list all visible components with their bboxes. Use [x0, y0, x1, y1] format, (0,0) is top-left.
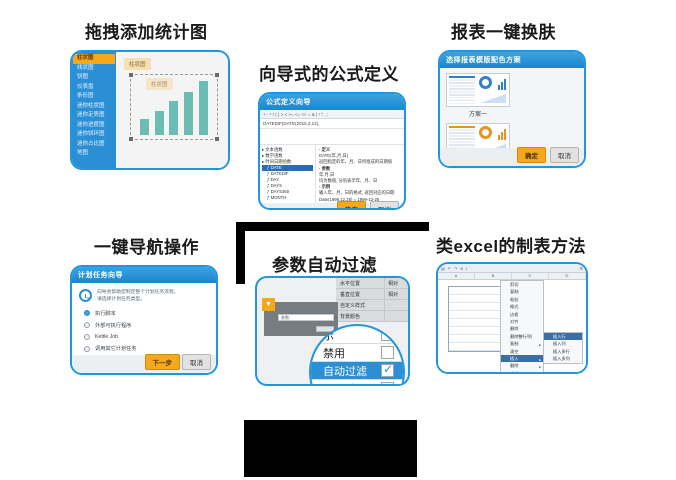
chevron-right-icon: ▸ — [539, 371, 541, 374]
spreadsheet-grid[interactable]: 剪切复制粘贴格式边框对齐删除删除整行/列复制▸清空插入▸删除▸合并▸ 插入行插入… — [438, 280, 586, 372]
column-header[interactable]: C — [512, 273, 549, 279]
radio-button[interactable] — [84, 322, 90, 328]
property-row[interactable]: 水平位置相对 — [336, 278, 408, 289]
chart-bar — [199, 81, 208, 135]
function-tree[interactable]: ▸ 文本函数▸ 数学函数▸ 时间日期函数ƒ DATEƒ DATEDIFƒ DAY… — [260, 145, 316, 203]
task-type-option[interactable]: 执行脚本 — [72, 307, 216, 319]
task-note-line1: 向导会帮助您制定整个计划任务流程。 — [97, 289, 179, 296]
black-artifact-bracket-top — [236, 222, 429, 231]
property-key: 垂直位置 — [336, 289, 384, 299]
filter-option-label: 记录结果值 — [323, 381, 381, 387]
property-key: 水平位置 — [336, 278, 384, 288]
panel-skin-chooser: 选择报表模版配色方案 方案一方案二方案三方案四 确定 取消 — [438, 50, 586, 168]
context-menu-item[interactable]: 复制 — [501, 288, 543, 295]
settings-icon[interactable]: ⚙ — [579, 266, 583, 271]
property-value[interactable] — [384, 300, 408, 310]
radio-button[interactable] — [84, 310, 90, 316]
checkbox[interactable] — [381, 364, 394, 377]
task-cancel-button[interactable]: 取消 — [182, 354, 211, 370]
parameter-card[interactable]: ▼ 参数： — [264, 302, 338, 336]
skin-option-label: 方案一 — [446, 109, 510, 118]
context-menu-item[interactable]: 合并▸ — [501, 370, 543, 374]
property-row[interactable]: 垂直位置相对 — [336, 289, 408, 300]
checkbox[interactable] — [381, 382, 394, 386]
formula-ok-button[interactable]: 确定 — [337, 201, 366, 210]
context-menu-item[interactable]: 复制▸ — [501, 340, 543, 347]
function-description-line: 返回指定的年、月、日所组成的日期值 — [319, 159, 401, 165]
drag-tag-source[interactable]: 柱状图 — [124, 58, 151, 70]
resize-handle-nw[interactable] — [129, 73, 133, 77]
parameter-field[interactable]: 参数： — [278, 314, 334, 321]
task-type-option[interactable]: Kettle Job — [72, 331, 216, 342]
context-menu-item[interactable]: 删除 — [501, 325, 543, 332]
parameter-field-label: 参数： — [279, 315, 293, 321]
chart-type-item[interactable]: 迷你占比图 — [73, 140, 115, 150]
chart-type-item[interactable]: 迷你饼环图 — [73, 130, 115, 140]
donut-chart-icon — [479, 126, 492, 139]
context-menu[interactable]: 剪切复制粘贴格式边框对齐删除删除整行/列复制▸清空插入▸删除▸合并▸ — [500, 280, 544, 374]
task-type-option[interactable]: 外部可执行程序 — [72, 319, 216, 331]
context-menu-item[interactable]: 剪切 — [501, 281, 543, 288]
property-value[interactable] — [384, 311, 408, 321]
checkbox[interactable] — [381, 346, 394, 359]
chart-type-item[interactable]: 条形图 — [73, 92, 115, 102]
chart-type-item[interactable]: 柱状图 — [73, 54, 115, 64]
feature-title-drag-chart: 拖拽添加统计图 — [85, 18, 208, 43]
chart-type-list[interactable]: 柱状图线状图饼图仪表盘条形图迷你柱状图迷你走势图迷你进度图迷你饼环图迷你占比图地… — [72, 52, 116, 168]
chart-type-item[interactable]: 迷你柱状图 — [73, 102, 115, 112]
skin-cancel-button[interactable]: 取消 — [550, 147, 579, 163]
property-key: 自定义样式 — [336, 300, 384, 310]
feature-title-skin: 报表一键换肤 — [451, 18, 556, 43]
property-row[interactable]: 自定义样式 — [336, 300, 408, 311]
italic-icon[interactable]: I — [466, 266, 467, 271]
context-menu-item[interactable]: 对齐 — [501, 318, 543, 325]
formula-preview-area — [260, 129, 404, 145]
skin-ok-button[interactable]: 确定 — [517, 147, 546, 163]
property-row[interactable]: 背景颜色 — [336, 311, 408, 322]
task-type-label: 外部可执行程序 — [95, 322, 131, 329]
task-wizard-note: 向导会帮助您制定整个计划任务流程。 请选择计划任务类型。 — [72, 283, 216, 307]
filter-option-row[interactable]: 自动过滤 — [311, 362, 403, 380]
resize-handle-sw[interactable] — [129, 137, 133, 141]
skin-dialog-footer: 确定 取消 — [440, 148, 584, 166]
column-header[interactable]: A — [438, 273, 475, 279]
skin-dialog-title: 选择报表模版配色方案 — [440, 52, 584, 68]
skin-thumbnail — [446, 73, 510, 107]
column-header[interactable]: D — [549, 273, 586, 279]
filter-option-label: 自动过滤 — [323, 363, 381, 379]
property-value[interactable]: 相对 — [384, 289, 408, 299]
bar-chart — [137, 81, 211, 135]
black-artifact-bracket-left — [236, 222, 245, 284]
chart-type-item[interactable]: 迷你走势图 — [73, 111, 115, 121]
feature-title-excel-like: 类excel的制表方法 — [436, 232, 586, 257]
panel-task-wizard: 计划任务向导 向导会帮助您制定整个计划任务流程。 请选择计划任务类型。 执行脚本… — [70, 265, 218, 375]
save-icon[interactable]: ▤ — [441, 266, 445, 271]
formula-dialog-footer: 确定 取消 — [260, 203, 404, 210]
submenu-item[interactable]: 插入列 — [544, 340, 582, 347]
task-type-option[interactable]: 调用其它计划任务 — [72, 343, 216, 355]
checkbox[interactable] — [381, 328, 394, 341]
chart-type-item[interactable]: 饼图 — [73, 73, 115, 83]
chart-canvas[interactable]: 柱状图 柱状图 — [116, 52, 228, 168]
radio-button[interactable] — [84, 334, 90, 340]
chart-bar — [169, 101, 178, 135]
resize-handle-se[interactable] — [215, 137, 219, 141]
formula-cancel-button[interactable]: 取消 — [370, 201, 399, 210]
feature-showcase: 拖拽添加统计图 向导式的公式定义 报表一键换肤 一键导航操作 参数自动过滤 类e… — [0, 0, 676, 480]
context-menu-item[interactable]: 删除整行/列 — [501, 333, 543, 340]
function-description: · 定义DATE(年,月,日)返回指定的年、月、日所组成的日期值· 参数年,月,… — [316, 145, 404, 203]
context-menu-item[interactable]: 格式 — [501, 303, 543, 310]
context-menu-item[interactable]: 清空 — [501, 348, 543, 355]
feature-title-navigation: 一键导航操作 — [94, 233, 199, 258]
context-menu-item[interactable]: 边框 — [501, 311, 543, 318]
filter-option-row[interactable]: 禁用 — [311, 344, 403, 362]
panel-drag-chart: 柱状图线状图饼图仪表盘条形图迷你柱状图迷你走势图迷你进度图迷你饼环图迷你占比图地… — [70, 50, 230, 170]
task-type-label: Kettle Job — [95, 334, 118, 340]
undo-icon[interactable]: ↶ — [448, 266, 451, 271]
submenu-item[interactable]: 插入多行 — [544, 348, 582, 355]
panel-formula-wizard: 公式定义向导 + - * / ( ) > < >= <= <> = & | ! … — [258, 92, 406, 210]
property-key: 背景颜色 — [336, 311, 384, 321]
filter-option-label: 禁用 — [323, 345, 381, 361]
task-dialog-title: 计划任务向导 — [72, 267, 216, 283]
submenu-item[interactable]: 插入多列 — [544, 355, 582, 362]
context-menu-item[interactable]: 粘贴 — [501, 296, 543, 303]
panel-auto-filter: 水平位置相对垂直位置相对自定义样式背景颜色 ▼ 参数： 示禁用自动过滤记录结果值… — [255, 276, 410, 386]
filter-option-row[interactable]: 记录结果值 — [311, 380, 403, 386]
function-tree-node[interactable]: ƒ MONTH — [262, 195, 313, 201]
context-menu-item[interactable]: 删除▸ — [501, 362, 543, 369]
chart-type-item[interactable]: 仪表盘 — [73, 83, 115, 93]
formula-expression-input[interactable]: DATEDIF(DATE(2015,3,12), — [260, 119, 404, 129]
radio-button[interactable] — [84, 346, 90, 352]
chart-selection-box[interactable] — [130, 74, 218, 140]
property-value[interactable]: 相对 — [384, 278, 408, 288]
redo-icon[interactable]: ↷ — [454, 266, 457, 271]
chart-type-item[interactable]: 线状图 — [73, 64, 115, 74]
chart-type-item[interactable]: 地图 — [73, 149, 115, 159]
panel-excel-like: ▤ ↶ ↷ B I ⚙ ABCD 剪切复制粘贴格式边框对齐删除删除整行/列复制▸… — [436, 262, 588, 374]
property-table[interactable]: 水平位置相对垂直位置相对自定义样式背景颜色 — [336, 278, 408, 322]
task-note-line2: 请选择计划任务类型。 — [97, 296, 179, 303]
chart-bar — [155, 111, 164, 135]
task-dialog-footer: 下一步 取消 — [72, 355, 216, 373]
insert-submenu[interactable]: 插入行插入列插入多行插入多列 — [543, 332, 583, 364]
submenu-item[interactable]: 插入行 — [544, 333, 582, 340]
feature-title-auto-filter: 参数自动过滤 — [272, 251, 377, 276]
resize-handle-ne[interactable] — [215, 73, 219, 77]
function-description-line: 输入年、月、日的格式, 返回对应的日期 — [319, 190, 401, 196]
column-headers[interactable]: ABCD — [438, 273, 586, 280]
chart-type-item[interactable]: 迷你进度图 — [73, 121, 115, 131]
chart-bar — [140, 119, 149, 136]
alarm-clock-icon — [79, 289, 92, 302]
excel-toolbar[interactable]: ▤ ↶ ↷ B I ⚙ — [438, 264, 586, 273]
bold-icon[interactable]: B — [461, 266, 464, 271]
black-artifact-block — [244, 420, 417, 477]
chart-bar — [184, 92, 193, 136]
task-next-button[interactable]: 下一步 — [145, 354, 181, 370]
task-type-label: 调用其它计划任务 — [95, 345, 137, 352]
formula-toolbar[interactable]: + - * / ( ) > < >= <= <> = & | ! ^ , ; — [260, 110, 404, 119]
feature-title-formula: 向导式的公式定义 — [259, 60, 399, 85]
column-header[interactable]: B — [475, 273, 512, 279]
donut-chart-icon — [479, 76, 492, 89]
formula-dialog-title: 公式定义向导 — [260, 94, 404, 110]
context-menu-item[interactable]: 插入▸ — [501, 355, 543, 362]
task-type-label: 执行脚本 — [95, 310, 116, 317]
skin-option[interactable]: 方案一 — [446, 73, 510, 118]
filter-funnel-icon[interactable]: ▼ — [262, 298, 275, 311]
